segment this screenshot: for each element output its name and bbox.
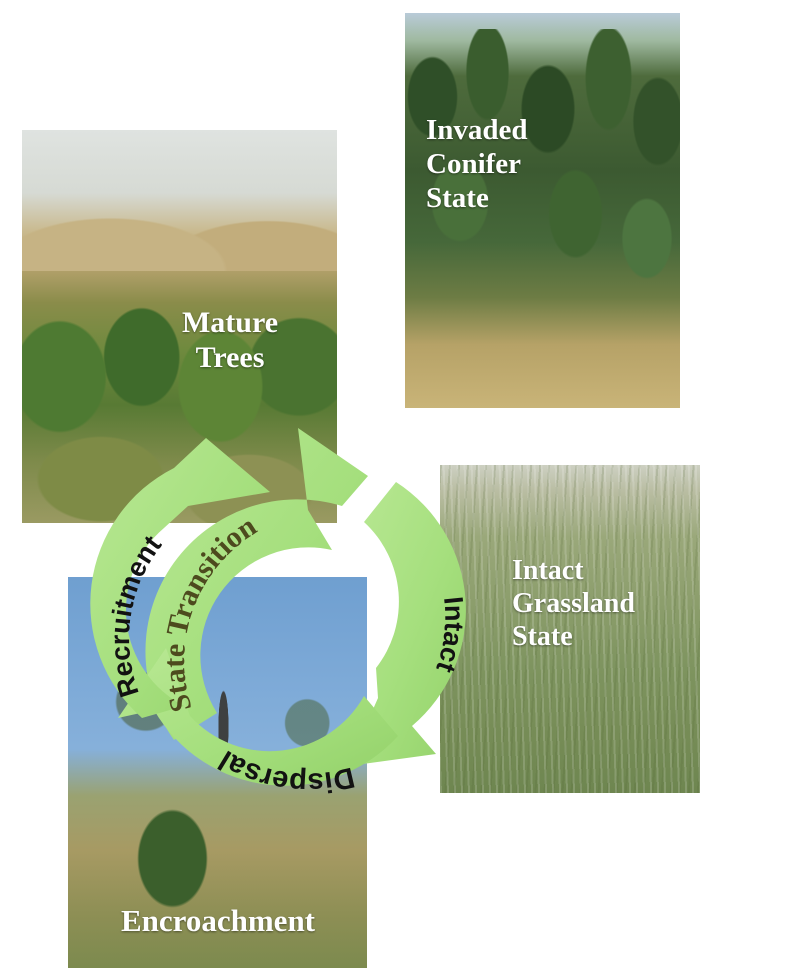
hill-ridge-shape (22, 185, 337, 271)
caption-intact-grassland-state: Intact Grassland State (512, 554, 702, 653)
diagram-canvas: Mature Trees Invaded Conifer State Intac… (0, 0, 800, 975)
caption-invaded-conifer-state: Invaded Conifer State (426, 113, 666, 216)
cycle-arrow-group: State Transition Intact Dispersal Recrui… (80, 410, 500, 830)
caption-mature-trees: Mature Trees (130, 305, 330, 376)
caption-encroachment: Encroachment (80, 903, 356, 940)
